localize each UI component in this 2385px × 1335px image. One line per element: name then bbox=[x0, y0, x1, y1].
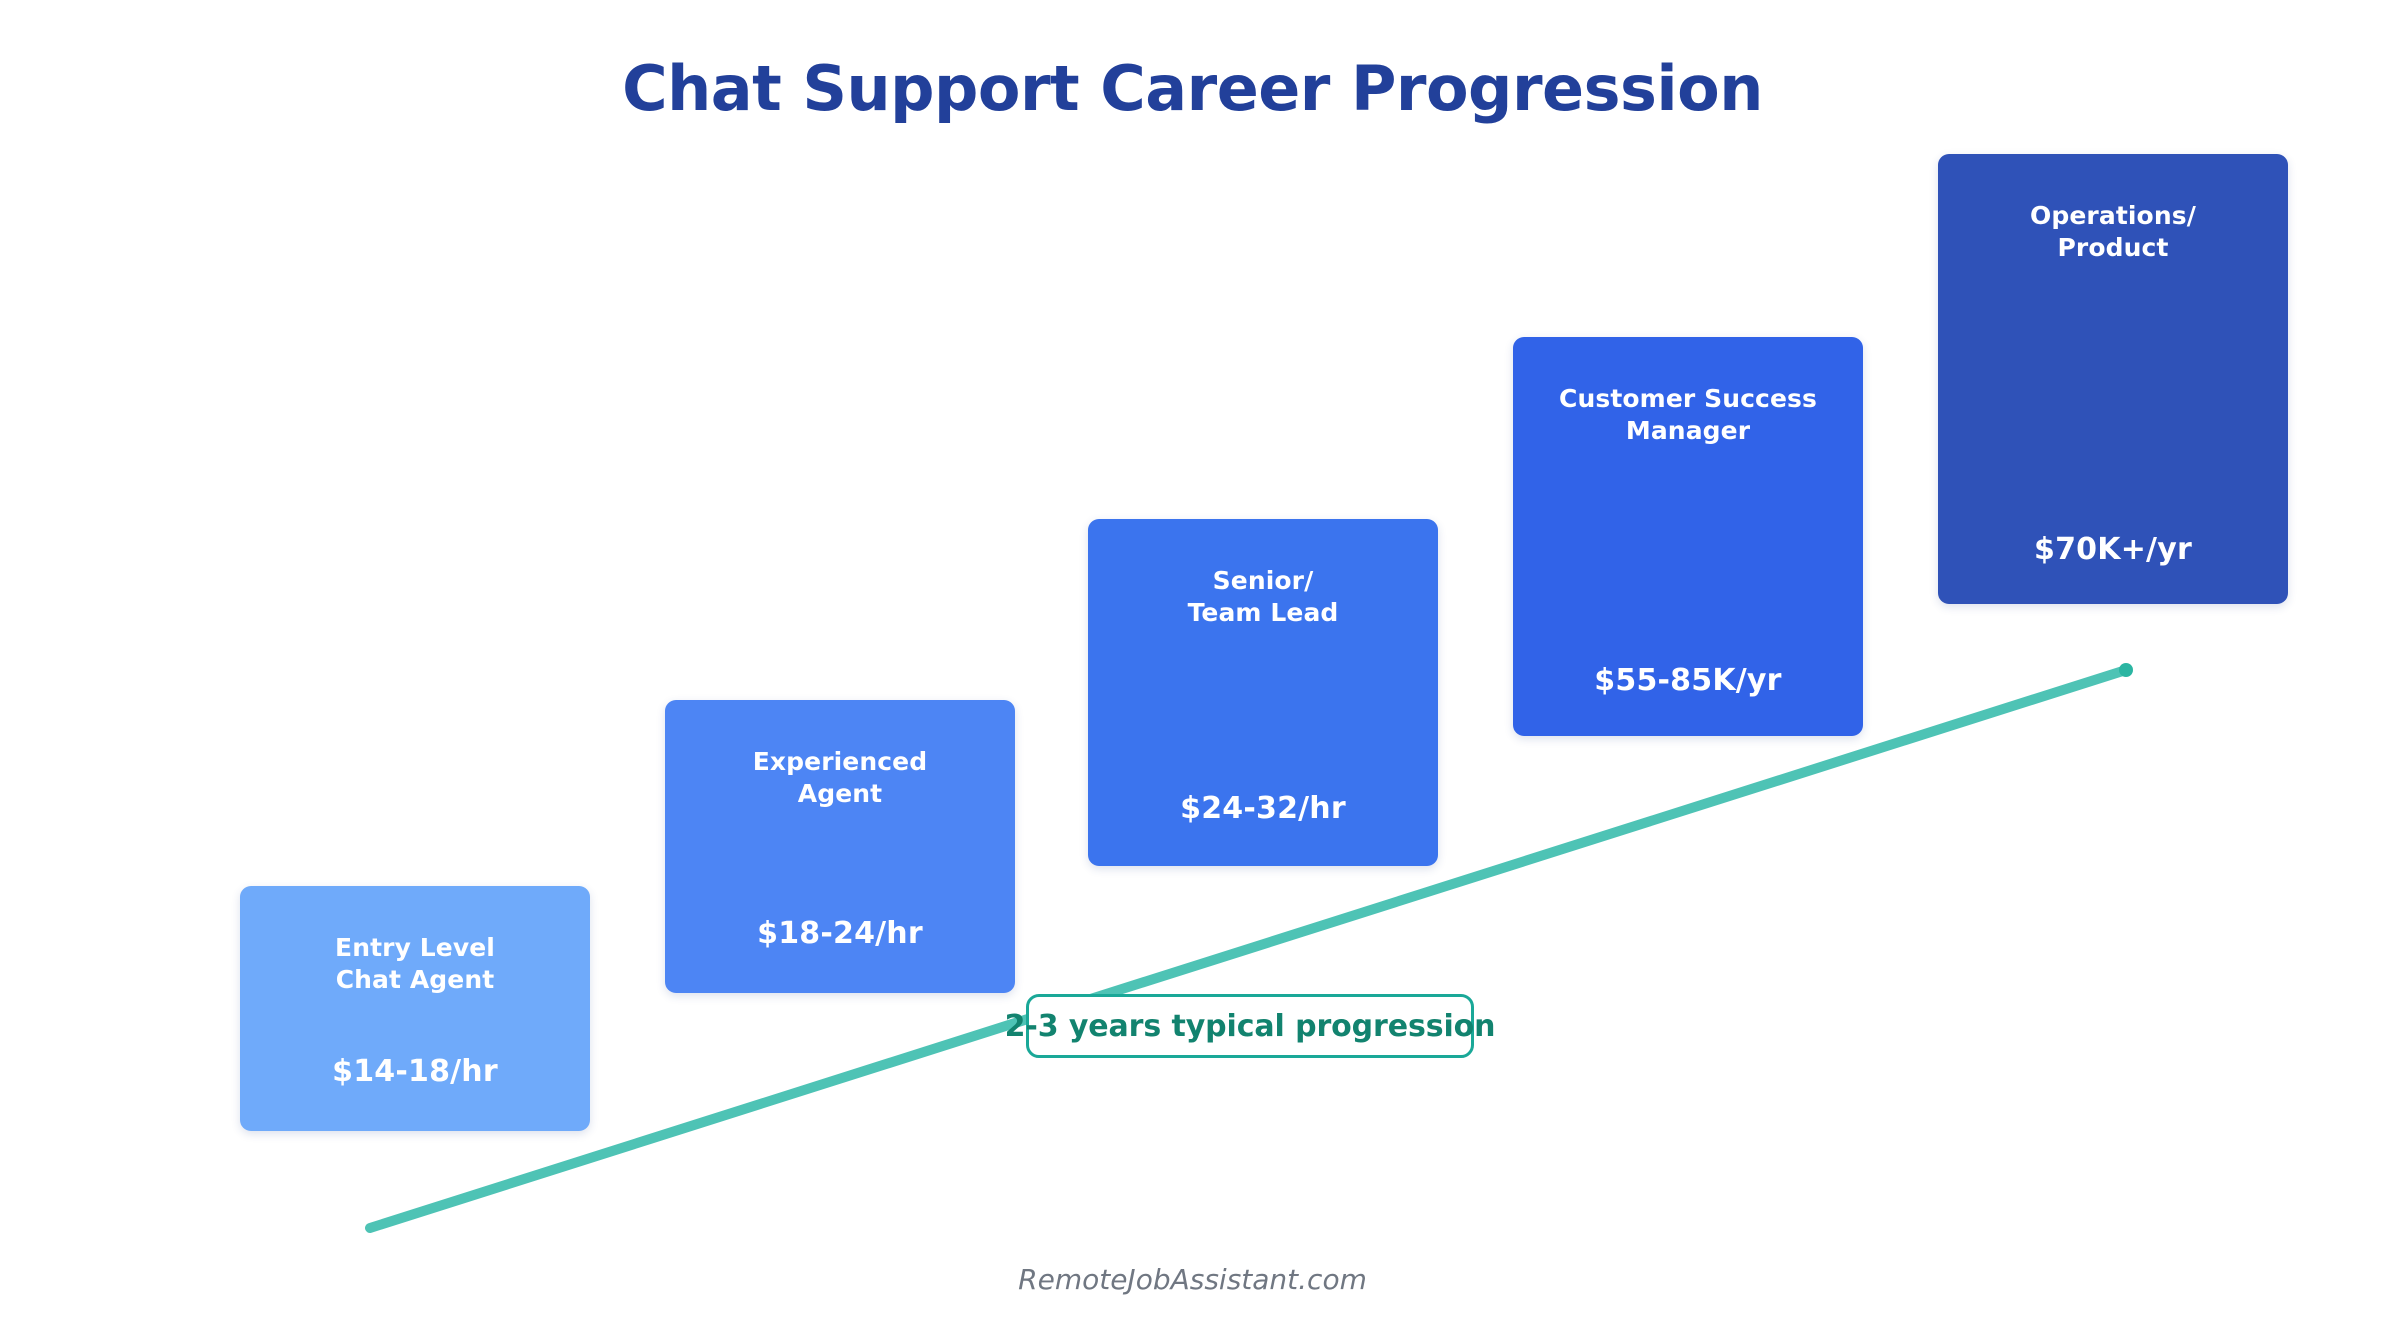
trend-line-endpoint bbox=[2119, 663, 2133, 677]
career-step-role-line2: Team Lead bbox=[1188, 598, 1339, 627]
career-step-role-line1: Senior/ bbox=[1213, 566, 1314, 595]
career-step-customer-success-manager[interactable]: Customer Success Manager $55-85K/yr bbox=[1513, 337, 1863, 736]
career-step-pay: $70K+/yr bbox=[1938, 532, 2288, 567]
career-step-senior-team-lead[interactable]: Senior/ Team Lead $24-32/hr bbox=[1088, 519, 1438, 866]
career-step-pay: $14-18/hr bbox=[240, 1054, 590, 1089]
page-title: Chat Support Career Progression bbox=[0, 52, 2385, 125]
career-step-role-line1: Entry Level bbox=[335, 933, 495, 962]
career-step-role: Customer Success Manager bbox=[1513, 383, 1863, 448]
career-step-role-line2: Manager bbox=[1626, 416, 1750, 445]
career-step-entry-level[interactable]: Entry Level Chat Agent $14-18/hr bbox=[240, 886, 590, 1131]
progression-timeframe-label: 2-3 years typical progression bbox=[1005, 1009, 1496, 1044]
career-step-operations-product[interactable]: Operations/ Product $70K+/yr bbox=[1938, 154, 2288, 604]
career-step-role-line2: Chat Agent bbox=[336, 965, 495, 994]
career-step-role: Senior/ Team Lead bbox=[1088, 565, 1438, 630]
career-step-role-line1: Operations/ bbox=[2030, 201, 2196, 230]
infographic-canvas: Chat Support Career Progression Entry Le… bbox=[0, 0, 2385, 1335]
career-step-role-line2: Agent bbox=[798, 779, 882, 808]
career-step-role-line1: Experienced bbox=[753, 747, 927, 776]
career-step-role: Experienced Agent bbox=[665, 746, 1015, 811]
career-step-pay: $24-32/hr bbox=[1088, 791, 1438, 826]
progression-timeframe-badge: 2-3 years typical progression bbox=[1026, 994, 1474, 1058]
career-step-role: Entry Level Chat Agent bbox=[240, 932, 590, 997]
source-credit: RemoteJobAssistant.com bbox=[0, 1263, 2385, 1296]
career-step-pay: $55-85K/yr bbox=[1513, 663, 1863, 698]
career-step-experienced-agent[interactable]: Experienced Agent $18-24/hr bbox=[665, 700, 1015, 993]
career-step-role-line2: Product bbox=[2058, 233, 2169, 262]
career-step-role-line1: Customer Success bbox=[1559, 384, 1817, 413]
career-step-pay: $18-24/hr bbox=[665, 916, 1015, 951]
career-step-role: Operations/ Product bbox=[1938, 200, 2288, 265]
